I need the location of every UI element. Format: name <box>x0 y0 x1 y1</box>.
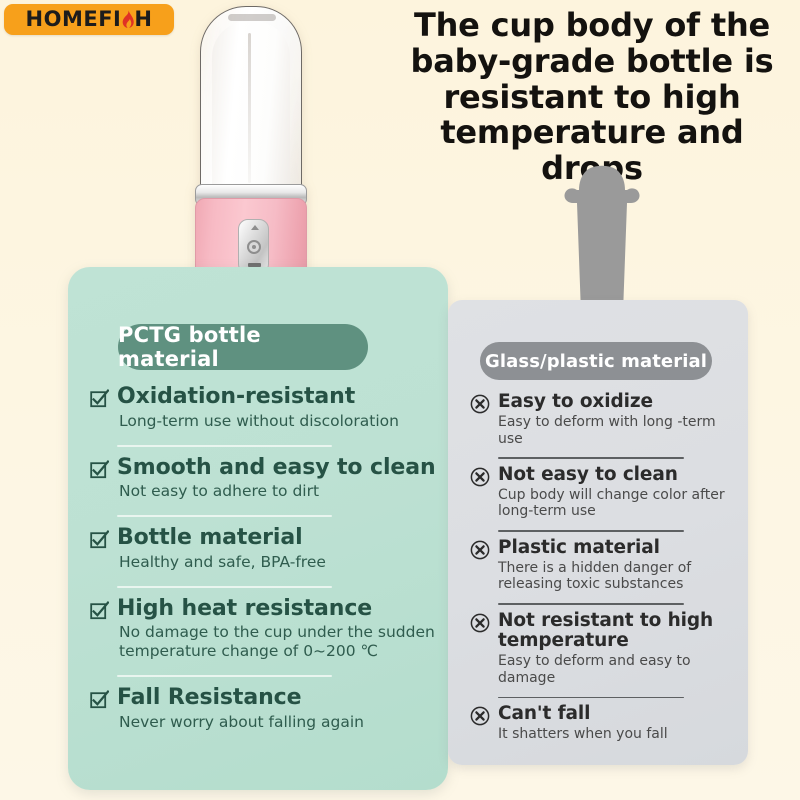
feature-title: Fall Resistance <box>117 686 436 711</box>
feature-subtitle: No damage to the cup under the sudden te… <box>119 623 436 661</box>
circle-x-icon <box>470 706 490 726</box>
feature-title: High heat resistance <box>117 597 436 622</box>
feature-title: Oxidation-resistant <box>117 385 436 410</box>
feature-item: Smooth and easy to clean Not easy to adh… <box>90 456 436 509</box>
feature-item: Bottle material Healthy and safe, BPA-fr… <box>90 526 436 579</box>
blender-cup-fill <box>212 21 290 195</box>
circle-x-icon <box>470 467 490 487</box>
feature-item: Oxidation-resistant Long-term use withou… <box>90 385 436 438</box>
feature-title: Easy to oxidize <box>498 392 732 413</box>
feature-title: Plastic material <box>498 538 732 559</box>
feature-item: High heat resistance No damage to the cu… <box>90 597 436 668</box>
triangle-icon <box>251 225 259 230</box>
feature-subtitle: Easy to deform and easy to damage <box>498 653 732 687</box>
flame-icon <box>121 10 134 30</box>
divider <box>117 445 332 447</box>
feature-subtitle: There is a hidden danger of releasing to… <box>498 560 732 594</box>
circle-x-icon <box>470 394 490 414</box>
panel-glass-plastic-material: Glass/plastic material Easy to oxidize E… <box>448 300 748 765</box>
feature-subtitle: Healthy and safe, BPA-free <box>119 553 436 572</box>
circle-x-icon <box>470 540 490 560</box>
blender-cup-highlight <box>248 33 251 183</box>
feature-subtitle: It shatters when you fall <box>498 726 732 743</box>
panel-pctg-material: PCTG bottle material Oxidation-resistant… <box>68 267 448 790</box>
blender-control-panel <box>238 219 269 274</box>
feature-item: Fall Resistance Never worry about fallin… <box>90 686 436 739</box>
feature-title: Can't fall <box>498 704 732 725</box>
feature-subtitle: Long-term use without discoloration <box>119 412 436 431</box>
divider <box>498 530 684 532</box>
check-square-icon <box>90 530 109 549</box>
feature-title: Bottle material <box>117 526 436 551</box>
divider <box>117 675 332 677</box>
product-image-blender <box>193 6 309 288</box>
feature-item: Not easy to clean Cup body will change c… <box>470 465 732 525</box>
brand-logo-text-after: H <box>134 9 152 30</box>
brand-logo: HOMEFI H <box>4 4 174 35</box>
feature-list-pctg: Oxidation-resistant Long-term use withou… <box>90 385 436 739</box>
power-button-icon <box>247 240 261 254</box>
divider <box>117 586 332 588</box>
badge-glass-plastic-material: Glass/plastic material <box>480 342 712 380</box>
check-square-icon <box>90 460 109 479</box>
circle-x-icon <box>470 613 490 633</box>
brand-logo-text: HOMEFI H <box>26 9 153 30</box>
blender-lid-slot <box>228 14 276 21</box>
divider <box>498 603 684 605</box>
feature-subtitle: Easy to deform with long -term use <box>498 414 732 448</box>
feature-item: Can't fall It shatters when you fall <box>470 704 732 748</box>
headline: The cup body of the baby-grade bottle is… <box>392 8 792 187</box>
check-square-icon <box>90 690 109 709</box>
feature-item: Plastic material There is a hidden dange… <box>470 538 732 598</box>
feature-list-glass-plastic: Easy to oxidize Easy to deform with long… <box>470 392 732 748</box>
feature-item: Easy to oxidize Easy to deform with long… <box>470 392 732 452</box>
infographic-canvas: HOMEFI H The cup body of the baby-grade … <box>0 0 800 800</box>
divider <box>498 457 684 459</box>
feature-title: Smooth and easy to clean <box>117 456 436 481</box>
blender-cup <box>200 6 302 196</box>
badge-pctg-bottle-material: PCTG bottle material <box>118 324 368 370</box>
feature-title: Not resistant to high temperature <box>498 611 732 652</box>
brand-logo-text-before: HOMEFI <box>26 9 122 30</box>
feature-title: Not easy to clean <box>498 465 732 486</box>
divider <box>117 515 332 517</box>
feature-subtitle: Never worry about falling again <box>119 713 436 732</box>
feature-subtitle: Cup body will change color after long-te… <box>498 487 732 521</box>
feature-item: Not resistant to high temperature Easy t… <box>470 611 732 692</box>
check-square-icon <box>90 389 109 408</box>
feature-subtitle: Not easy to adhere to dirt <box>119 482 436 501</box>
check-square-icon <box>90 601 109 620</box>
divider <box>498 697 684 699</box>
